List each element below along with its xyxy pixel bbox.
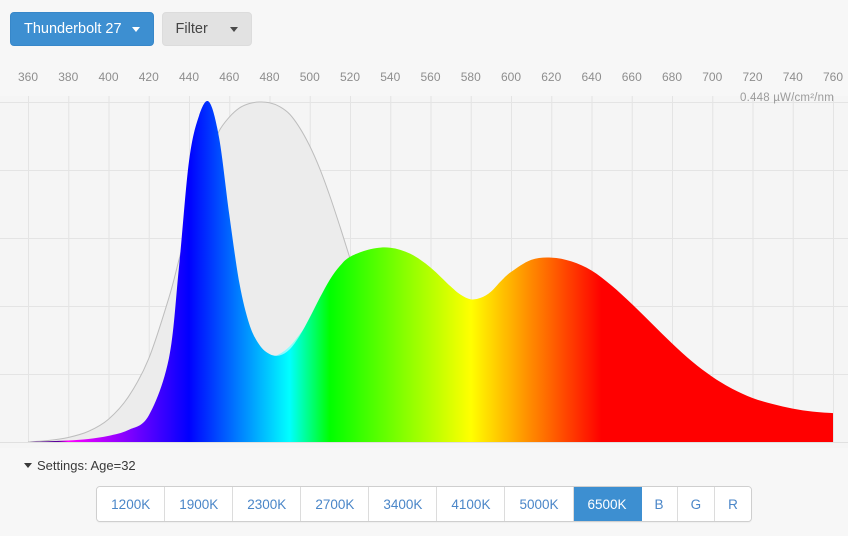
x-tick-560: 560 — [420, 70, 440, 84]
preset-button-4100k[interactable]: 4100K — [437, 487, 505, 521]
preset-button-2700k[interactable]: 2700K — [301, 487, 369, 521]
preset-button-1900k[interactable]: 1900K — [165, 487, 233, 521]
x-tick-380: 380 — [58, 70, 78, 84]
x-tick-640: 640 — [581, 70, 601, 84]
device-select-label: Thunderbolt 27 — [24, 22, 122, 37]
x-tick-660: 660 — [622, 70, 642, 84]
preset-button-g[interactable]: G — [678, 487, 716, 521]
x-tick-700: 700 — [702, 70, 722, 84]
filter-button[interactable]: Filter — [162, 12, 252, 46]
x-tick-760: 760 — [823, 70, 843, 84]
settings-toggle[interactable]: Settings: Age=32 — [24, 458, 136, 473]
preset-button-3400k[interactable]: 3400K — [369, 487, 437, 521]
x-tick-580: 580 — [461, 70, 481, 84]
preset-button-2300k[interactable]: 2300K — [233, 487, 301, 521]
x-tick-440: 440 — [179, 70, 199, 84]
x-tick-360: 360 — [18, 70, 38, 84]
caret-down-icon — [24, 463, 32, 468]
x-tick-500: 500 — [300, 70, 320, 84]
spectrum-chart[interactable] — [0, 96, 848, 448]
chevron-down-icon — [132, 27, 140, 32]
settings-label: Settings: Age=32 — [37, 458, 136, 473]
x-tick-680: 680 — [662, 70, 682, 84]
x-axis-tick-labels: 3603804004204404604805005205405605806006… — [0, 70, 848, 90]
x-tick-480: 480 — [259, 70, 279, 84]
x-tick-620: 620 — [541, 70, 561, 84]
x-tick-460: 460 — [219, 70, 239, 84]
preset-button-group: 1200K1900K2300K2700K3400K4100K5000K6500K… — [96, 486, 752, 522]
spectrometer-app: Thunderbolt 27 Filter 360380400420440460… — [0, 0, 848, 536]
x-tick-600: 600 — [501, 70, 521, 84]
preset-button-r[interactable]: R — [715, 487, 751, 521]
x-tick-400: 400 — [98, 70, 118, 84]
filter-label: Filter — [176, 22, 208, 37]
toolbar: Thunderbolt 27 Filter — [10, 12, 252, 46]
x-tick-720: 720 — [742, 70, 762, 84]
preset-row: 1200K1900K2300K2700K3400K4100K5000K6500K… — [0, 486, 848, 522]
chevron-down-icon — [230, 27, 238, 32]
spectrum-plot-svg — [0, 96, 848, 448]
preset-button-5000k[interactable]: 5000K — [505, 487, 573, 521]
preset-button-b[interactable]: B — [642, 487, 678, 521]
x-tick-740: 740 — [783, 70, 803, 84]
x-tick-420: 420 — [139, 70, 159, 84]
preset-button-1200k[interactable]: 1200K — [97, 487, 165, 521]
peak-value-readout: 0.448 µW/cm²/nm — [740, 92, 834, 104]
preset-button-6500k[interactable]: 6500K — [574, 487, 642, 521]
device-select-button[interactable]: Thunderbolt 27 — [10, 12, 154, 46]
x-tick-520: 520 — [340, 70, 360, 84]
x-tick-540: 540 — [380, 70, 400, 84]
